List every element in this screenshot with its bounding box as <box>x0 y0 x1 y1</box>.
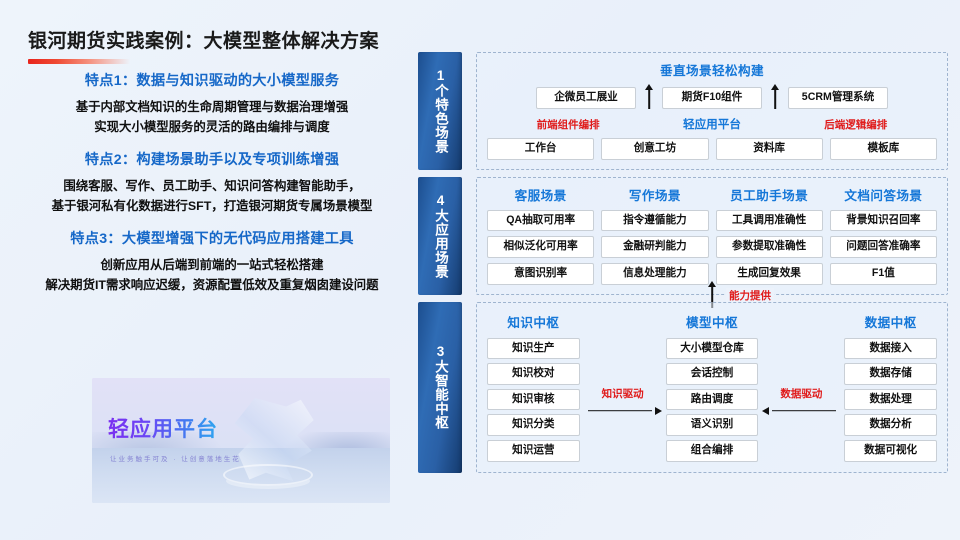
feature-title-1: 特点1：数据与知识驱动的大小模型服务 <box>14 70 410 90</box>
arrow-shaft <box>588 410 652 412</box>
section-tab-apps-label: 4大应用场景 <box>432 193 448 279</box>
feature-line-3-2: 解决期货IT需求响应迟缓，资源配置低效及重复烟囱建设问题 <box>14 275 410 295</box>
hub-cell-data-4[interactable]: 数据分析 <box>844 414 937 436</box>
section-apps: 4大应用场景 客服场景 写作场景 员工助手场景 文档问答场景 QA抽取可用率 指… <box>418 177 948 295</box>
arrow-column-knowledge-driven: 知识驱动 <box>580 312 666 462</box>
feature-title-3: 特点3：大模型增强下的无代码应用搭建工具 <box>14 228 410 248</box>
title-block: 银河期货实践案例：大模型整体解决方案 <box>28 26 379 64</box>
water-ripple-icon <box>223 464 313 486</box>
section-tab-scene[interactable]: 1个特色场景 <box>418 52 462 170</box>
scene-box-scrm[interactable]: 5CRM管理系统 <box>788 87 888 109</box>
apps-cell-docqa-2[interactable]: 问题回答准确率 <box>830 236 937 258</box>
arrow-head <box>655 407 662 415</box>
section-tab-scene-label: 1个特色场景 <box>432 68 448 154</box>
data-driven-arrow-group: 数据驱动 <box>762 386 840 416</box>
feature-title-2: 特点2：构建场景助手以及专项训练增强 <box>14 149 410 169</box>
hub-cell-data-2[interactable]: 数据存储 <box>844 363 937 385</box>
hub-cell-model-3[interactable]: 路由调度 <box>666 389 759 411</box>
hub-cell-knowledge-4[interactable]: 知识分类 <box>487 414 580 436</box>
hub-cell-knowledge-3[interactable]: 知识审核 <box>487 389 580 411</box>
arrow-label-knowledge-driven: 知识驱动 <box>602 386 644 401</box>
hub-cell-data-5[interactable]: 数据可视化 <box>844 440 937 462</box>
scene-mid-row: 前端组件编排 轻应用平台 后端逻辑编排 <box>487 116 937 132</box>
scene-box-library[interactable]: 资料库 <box>716 138 823 160</box>
section-tab-hubs[interactable]: 3大智能中枢 <box>418 302 462 473</box>
apps-cell-writing-1[interactable]: 指令遵循能力 <box>601 210 708 232</box>
apps-column-title-docqa: 文档问答场景 <box>830 185 937 204</box>
arrow-shaft <box>772 410 836 412</box>
hub-cell-knowledge-1[interactable]: 知识生产 <box>487 338 580 360</box>
apps-cell-writing-3[interactable]: 信息处理能力 <box>601 263 708 285</box>
scene-label-backend: 后端逻辑编排 <box>824 117 887 132</box>
section-tab-hubs-label: 3大智能中枢 <box>432 344 448 430</box>
scene-heading: 垂直场景轻松构建 <box>487 60 937 79</box>
architecture-panel: 1个特色场景 垂直场景轻松构建 企微员工展业 期货F10组件 5CRM管理系统 … <box>418 52 948 480</box>
apps-cell-writing-2[interactable]: 金融研判能力 <box>601 236 708 258</box>
hub-column-model: 模型中枢 大小模型仓库 会话控制 路由调度 语义识别 组合编排 <box>666 312 759 462</box>
light-app-platform-banner-image: 轻应用平台 让业务触手可及 · 让创意落地生花 <box>92 378 390 503</box>
feature-item-1: 特点1：数据与知识驱动的大小模型服务 基于内部文档知识的生命周期管理与数据治理增… <box>14 70 410 138</box>
scene-box-workbench[interactable]: 工作台 <box>487 138 594 160</box>
section-scene: 1个特色场景 垂直场景轻松构建 企微员工展业 期货F10组件 5CRM管理系统 … <box>418 52 948 170</box>
apps-cell-assistant-2[interactable]: 参数提取准确性 <box>716 236 823 258</box>
capability-provide-label: 能力提供 <box>726 288 774 303</box>
feature-line-1-1: 基于内部文档知识的生命周期管理与数据治理增强 <box>14 97 410 117</box>
banner-title: 轻应用平台 <box>108 413 218 443</box>
hub-column-knowledge: 知识中枢 知识生产 知识校对 知识审核 知识分类 知识运营 <box>487 312 580 462</box>
arrow-column-data-driven: 数据驱动 <box>758 312 844 462</box>
apps-cell-service-1[interactable]: QA抽取可用率 <box>487 210 594 232</box>
apps-cell-service-2[interactable]: 相似泛化可用率 <box>487 236 594 258</box>
hub-cell-model-1[interactable]: 大小模型仓库 <box>666 338 759 360</box>
scene-box-studio[interactable]: 创意工坊 <box>601 138 708 160</box>
scene-label-frontend: 前端组件编排 <box>537 117 600 132</box>
hub-title-data: 数据中枢 <box>844 312 937 331</box>
scene-label-platform: 轻应用平台 <box>683 116 741 132</box>
section-scene-body: 垂直场景轻松构建 企微员工展业 期货F10组件 5CRM管理系统 前端组件编排 … <box>476 52 948 170</box>
apps-column-title-writing: 写作场景 <box>601 185 708 204</box>
scene-top-row: 企微员工展业 期货F10组件 5CRM管理系统 <box>487 85 937 111</box>
apps-cell-docqa-1[interactable]: 背景知识召回率 <box>830 210 937 232</box>
section-hubs-body: 知识中枢 知识生产 知识校对 知识审核 知识分类 知识运营 知识驱动 <box>476 302 948 473</box>
scene-bottom-row: 工作台 创意工坊 资料库 模板库 <box>487 138 937 160</box>
feature-item-2: 特点2：构建场景助手以及专项训练增强 围绕客服、写作、员工助手、知识问答构建智能… <box>14 149 410 217</box>
features-column: 特点1：数据与知识驱动的大小模型服务 基于内部文档知识的生命周期管理与数据治理增… <box>14 70 410 307</box>
apps-grid: 客服场景 写作场景 员工助手场景 文档问答场景 QA抽取可用率 指令遵循能力 工… <box>487 185 937 285</box>
hubs-grid: 知识中枢 知识生产 知识校对 知识审核 知识分类 知识运营 知识驱动 <box>487 312 937 462</box>
knowledge-driven-arrow-group: 知识驱动 <box>584 386 662 416</box>
feature-item-3: 特点3：大模型增强下的无代码应用搭建工具 创新应用从后端到前端的一站式轻松搭建 … <box>14 228 410 296</box>
section-hubs: 3大智能中枢 知识中枢 知识生产 知识校对 知识审核 知识分类 知识运营 知识驱… <box>418 302 948 473</box>
hub-cell-data-1[interactable]: 数据接入 <box>844 338 937 360</box>
hub-cell-knowledge-5[interactable]: 知识运营 <box>487 440 580 462</box>
feature-line-2-1: 围绕客服、写作、员工助手、知识问答构建智能助手， <box>14 176 410 196</box>
hub-cell-knowledge-2[interactable]: 知识校对 <box>487 363 580 385</box>
hub-cell-model-2[interactable]: 会话控制 <box>666 363 759 385</box>
scene-box-qiwei[interactable]: 企微员工展业 <box>536 87 636 109</box>
feature-line-2-2: 基于银河私有化数据进行SFT，打造银河期货专属场景模型 <box>14 196 410 216</box>
section-apps-body: 客服场景 写作场景 员工助手场景 文档问答场景 QA抽取可用率 指令遵循能力 工… <box>476 177 948 295</box>
up-arrow-icon-2 <box>762 85 788 111</box>
hub-cell-model-4[interactable]: 语义识别 <box>666 414 759 436</box>
up-arrow-icon-1 <box>636 85 662 111</box>
arrow-label-data-driven: 数据驱动 <box>780 386 822 401</box>
apps-column-title-assistant: 员工助手场景 <box>716 185 823 204</box>
apps-column-title-service: 客服场景 <box>487 185 594 204</box>
hub-title-model: 模型中枢 <box>666 312 759 331</box>
hub-cell-data-3[interactable]: 数据处理 <box>844 389 937 411</box>
right-arrow-icon-knowledge <box>584 406 662 416</box>
hub-column-data: 数据中枢 数据接入 数据存储 数据处理 数据分析 数据可视化 <box>844 312 937 462</box>
apps-cell-assistant-3[interactable]: 生成回复效果 <box>716 263 823 285</box>
title-underline-rule <box>28 59 130 64</box>
apps-cell-docqa-3[interactable]: F1值 <box>830 263 937 285</box>
scene-box-templates[interactable]: 模板库 <box>830 138 937 160</box>
banner-subtitle: 让业务触手可及 · 让创意落地生花 <box>110 453 241 463</box>
hub-cell-model-5[interactable]: 组合编排 <box>666 440 759 462</box>
section-tab-apps[interactable]: 4大应用场景 <box>418 177 462 295</box>
apps-cell-assistant-1[interactable]: 工具调用准确性 <box>716 210 823 232</box>
feature-line-3-1: 创新应用从后端到前端的一站式轻松搭建 <box>14 255 410 275</box>
arrow-head <box>762 407 769 415</box>
left-arrow-icon-data <box>762 406 840 416</box>
page-title: 银河期货实践案例：大模型整体解决方案 <box>28 26 379 53</box>
scene-box-f10[interactable]: 期货F10组件 <box>662 87 762 109</box>
apps-cell-service-3[interactable]: 意图识别率 <box>487 263 594 285</box>
feature-line-1-2: 实现大小模型服务的灵活的路由编排与调度 <box>14 117 410 137</box>
hub-title-knowledge: 知识中枢 <box>487 312 580 331</box>
